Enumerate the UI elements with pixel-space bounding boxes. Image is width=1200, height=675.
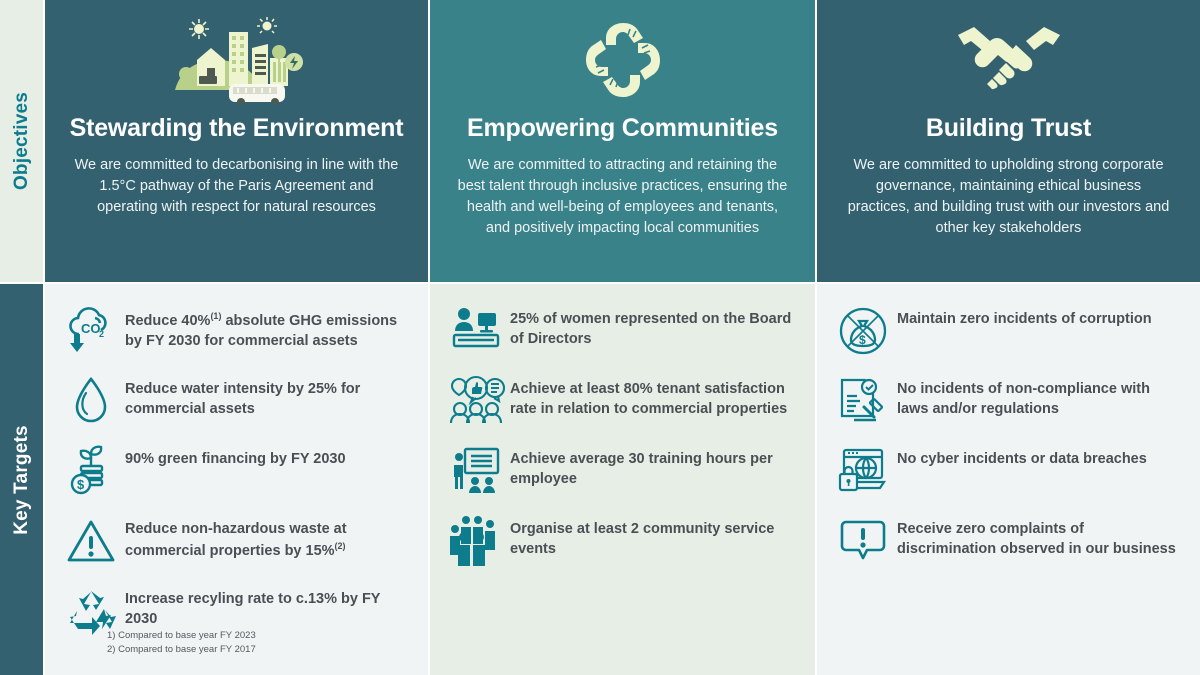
- header-environment: Stewarding the Environment We are commit…: [45, 0, 428, 282]
- warning-triangle-icon: [57, 508, 125, 574]
- target-item: $ Maintain zero incidents of corruption: [829, 298, 1188, 364]
- target-text: No incidents of non-compliance with laws…: [897, 368, 1188, 420]
- target-text: 90% green financing by FY 2030: [125, 438, 416, 470]
- target-item: Receive zero complaints of discriminatio…: [829, 508, 1188, 574]
- target-item: Achieve average 30 training hours per em…: [442, 438, 803, 504]
- svg-text:$: $: [77, 477, 85, 492]
- target-text: Achieve average 30 training hours per em…: [510, 438, 803, 490]
- column-description: We are committed to upholding strong cor…: [844, 155, 1174, 239]
- column-title: Building Trust: [926, 114, 1091, 143]
- targets-trust: $ Maintain zero incidents of corruption: [817, 284, 1200, 675]
- complaint-exclamation-bubble-icon: [829, 508, 897, 574]
- rail-key-targets: Key Targets: [0, 284, 43, 675]
- board-director-desk-icon: [442, 298, 510, 364]
- water-droplet-icon: [57, 368, 125, 434]
- rail-objectives-label: Objectives: [11, 92, 33, 190]
- target-text: Reduce 40%(1) absolute GHG emissions by …: [125, 298, 416, 352]
- cyber-security-lock-globe-icon: [829, 438, 897, 504]
- green-financing-coins-plant-icon: $: [57, 438, 125, 504]
- column-environment: Stewarding the Environment We are commit…: [45, 0, 428, 675]
- compliance-gavel-document-icon: [829, 368, 897, 434]
- target-text: No cyber incidents or data breaches: [897, 438, 1188, 470]
- target-item: 25% of women represented on the Board of…: [442, 298, 803, 364]
- header-trust: Building Trust We are committed to uphol…: [817, 0, 1200, 282]
- target-item: CO 2 Reduce 40%(1) absolute GHG emission…: [57, 298, 416, 364]
- target-item: Organise at least 2 community service ev…: [442, 508, 803, 574]
- target-text: Reduce non-hazardous waste at commercial…: [125, 508, 416, 562]
- target-item: No incidents of non-compliance with laws…: [829, 368, 1188, 434]
- rail-key-targets-label: Key Targets: [11, 425, 33, 535]
- tenant-satisfaction-thumbs-up-icon: [442, 368, 510, 434]
- header-communities: Empowering Communities We are committed …: [430, 0, 815, 282]
- target-text: Organise at least 2 community service ev…: [510, 508, 803, 560]
- column-communities: Empowering Communities We are committed …: [430, 0, 815, 675]
- column-title: Empowering Communities: [467, 114, 778, 143]
- green-city-illustration-icon: [167, 14, 307, 106]
- targets-environment: CO 2 Reduce 40%(1) absolute GHG emission…: [45, 284, 428, 675]
- training-presentation-icon: [442, 438, 510, 504]
- target-item: Achieve at least 80% tenant satisfaction…: [442, 368, 803, 434]
- target-item: No cyber incidents or data breaches: [829, 438, 1188, 504]
- column-title: Stewarding the Environment: [70, 114, 404, 143]
- target-text: Maintain zero incidents of corruption: [897, 298, 1188, 330]
- column-trust: Building Trust We are committed to uphol…: [817, 0, 1200, 675]
- esg-objectives-infographic: Objectives Key Targets: [0, 0, 1200, 675]
- column-description: We are committed to decarbonising in lin…: [72, 155, 402, 218]
- footnotes: 1) Compared to base year FY 2023 2) Comp…: [107, 629, 256, 658]
- footnote-1: 1) Compared to base year FY 2023: [107, 629, 256, 643]
- targets-communities: 25% of women represented on the Board of…: [430, 284, 815, 675]
- four-hands-circle-icon: [580, 14, 666, 106]
- community-group-people-icon: [442, 508, 510, 574]
- footnote-2: 2) Compared to base year FY 2017: [107, 643, 256, 657]
- svg-text:$: $: [859, 333, 866, 347]
- column-description: We are committed to attracting and retai…: [458, 155, 788, 239]
- no-corruption-money-bag-icon: $: [829, 298, 897, 364]
- target-text: Reduce water intensity by 25% for commer…: [125, 368, 416, 420]
- svg-text:CO: CO: [81, 321, 101, 336]
- target-item: $ 90% green financing by FY 2030: [57, 438, 416, 504]
- co2-cloud-down-arrow-icon: CO 2: [57, 298, 125, 364]
- handshake-icon: [954, 14, 1064, 106]
- target-item: Reduce non-hazardous waste at commercial…: [57, 508, 416, 574]
- target-text: 25% of women represented on the Board of…: [510, 298, 803, 350]
- rail-objectives: Objectives: [0, 0, 43, 282]
- target-text: Achieve at least 80% tenant satisfaction…: [510, 368, 803, 420]
- target-text: Receive zero complaints of discriminatio…: [897, 508, 1188, 560]
- target-text: Increase recyling rate to c.13% by FY 20…: [125, 578, 416, 630]
- svg-text:2: 2: [99, 329, 104, 339]
- target-item: Reduce water intensity by 25% for commer…: [57, 368, 416, 434]
